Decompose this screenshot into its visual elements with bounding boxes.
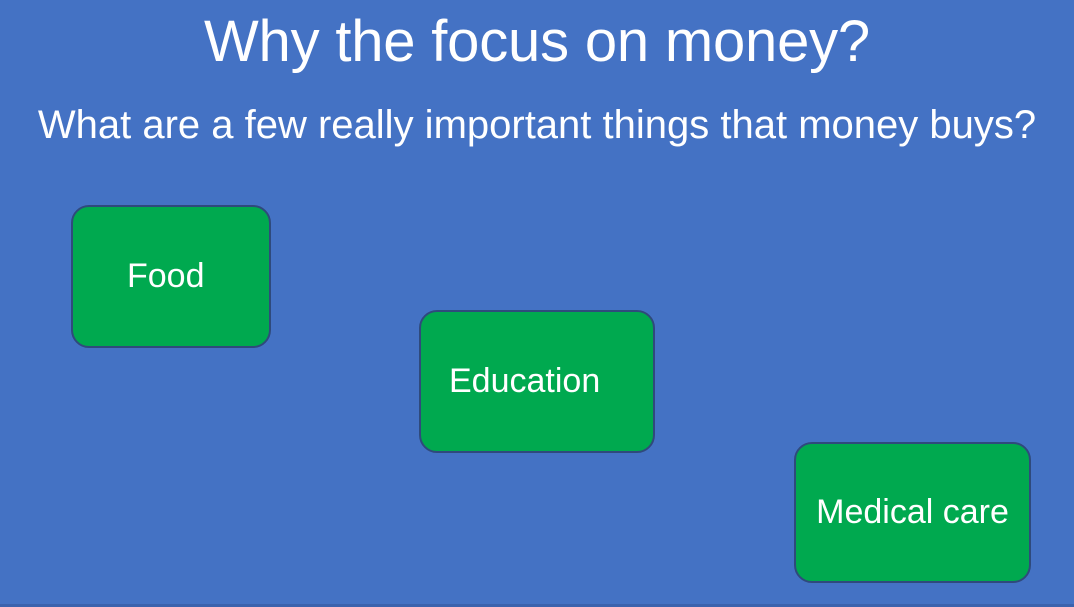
concept-box-education[interactable]: Education [419,310,655,453]
slide-title: Why the focus on money? [0,6,1074,79]
concept-box-education-label: Education [449,360,600,403]
concept-box-food[interactable]: Food [71,205,271,348]
concept-box-medical-care[interactable]: Medical care [794,442,1031,583]
presentation-slide: Why the focus on money? What are a few r… [0,0,1074,607]
concept-box-food-label: Food [127,255,205,298]
slide-subtitle: What are a few really important things t… [0,99,1074,151]
concept-box-medical-care-label: Medical care [816,491,1009,534]
